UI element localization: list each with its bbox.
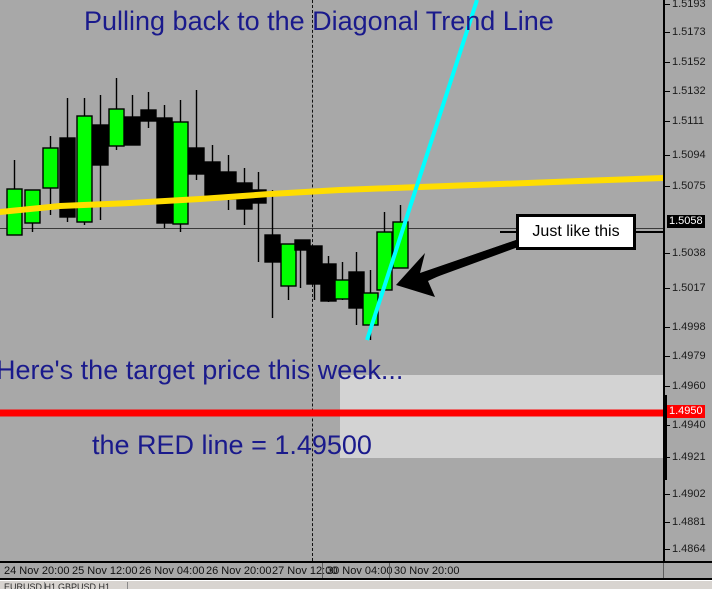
price-tick: 1.5173 [665, 26, 706, 38]
trading-chart-window: Just like this Pulling back to the Diago… [0, 0, 712, 589]
price-tick: 1.4902 [665, 488, 706, 500]
price-tick: 1.4881 [665, 516, 706, 528]
time-tick: 26 Nov 04:00 [139, 565, 204, 577]
price-tick: 1.4979 [665, 350, 706, 362]
price-tick: 1.5038 [665, 247, 706, 259]
price-tick: 1.4921 [665, 451, 706, 463]
time-axis-separator [663, 563, 664, 580]
callout-stub-right [636, 231, 663, 233]
current-price-badge: 1.5058 [667, 215, 705, 228]
chart-tab[interactable]: EURUSD,H1 [4, 583, 56, 589]
red-line-value-annotation: the RED line = 1.49500 [92, 430, 372, 461]
chart-tab[interactable]: GBPUSD,H1 [58, 583, 110, 589]
price-tick: 1.5193 [665, 0, 706, 10]
price-tick: 1.5152 [665, 56, 706, 68]
price-tick: 1.4864 [665, 543, 706, 555]
tab-divider [127, 582, 128, 589]
time-axis-separator [322, 563, 323, 580]
price-tick: 1.5075 [665, 180, 706, 192]
time-tick: 30 Nov 04:00 [327, 565, 392, 577]
chart-title-annotation: Pulling back to the Diagonal Trend Line [84, 6, 554, 37]
price-tick: 1.4998 [665, 321, 706, 333]
target-price-annotation: Here's the target price this week... [0, 355, 403, 386]
price-scale-range-bar[interactable] [663, 395, 667, 480]
price-tick: 1.5132 [665, 85, 706, 97]
price-tick: 1.5111 [665, 115, 704, 127]
time-axis[interactable]: 24 Nov 20:00 25 Nov 12:00 26 Nov 04:00 2… [0, 561, 712, 580]
chart-plot-area[interactable]: Just like this Pulling back to the Diago… [0, 0, 663, 561]
price-tick: 1.5094 [665, 149, 706, 161]
price-tick: 1.4940 [665, 419, 706, 431]
chart-tab-strip[interactable]: EURUSD,H1 GBPUSD,H1 [0, 580, 712, 589]
price-tick: 1.4960 [665, 380, 706, 392]
tab-divider [44, 582, 45, 589]
candlestick-series [0, 0, 663, 561]
price-tick: 1.5017 [665, 282, 706, 294]
time-tick: 25 Nov 12:00 [72, 565, 137, 577]
price-axis[interactable]: 1.5193 1.5173 1.5152 1.5132 1.5111 1.509… [663, 0, 712, 561]
time-tick: 30 Nov 20:00 [394, 565, 459, 577]
time-axis-separator [389, 563, 390, 580]
target-price-badge: 1.4950 [667, 405, 705, 418]
callout-label: Just like this [519, 217, 633, 247]
callout-box[interactable]: Just like this [516, 214, 636, 250]
time-tick: 26 Nov 20:00 [206, 565, 271, 577]
time-tick: 24 Nov 20:00 [4, 565, 69, 577]
